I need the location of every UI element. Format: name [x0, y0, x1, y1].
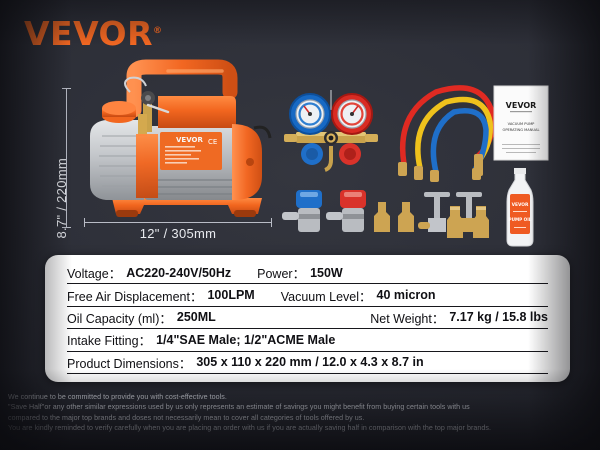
disclaimer-line: We continue to be committed to provide y… — [8, 392, 594, 402]
operating-manual-graphic: VEVOR VACUUM PUMP OPERATING MANUAL — [492, 84, 550, 162]
spec-value: AC220-240V/50Hz — [126, 266, 231, 280]
spec-cell: Oil Capacity (ml)： 250ML — [67, 308, 216, 327]
registered-trademark-icon: ® — [153, 26, 163, 36]
red-quick-coupler — [326, 190, 366, 232]
spec-label: Voltage： — [67, 263, 121, 282]
disclaimer-line: "Save Half"or any other similar expressi… — [8, 402, 594, 412]
spec-cell: Intake Fitting： 1/4"SAE Male; 1/2"ACME M… — [67, 330, 335, 349]
svg-text:CE: CE — [208, 138, 217, 146]
width-dimension-line — [84, 222, 272, 223]
width-dimension-label: 12" / 305mm — [84, 226, 272, 241]
manifold-gauge-graphic — [282, 88, 380, 174]
disclaimer-text: We continue to be committed to provide y… — [8, 392, 594, 434]
spec-label: Product Dimensions： — [67, 353, 191, 372]
manifold-gauge-set-image — [282, 88, 380, 174]
vacuum-pump-image: VEVOR CE — [72, 58, 284, 226]
spec-cell: Product Dimensions： 305 x 110 x 220 mm /… — [67, 353, 424, 372]
svg-text:VACUUM PUMP: VACUUM PUMP — [508, 122, 536, 126]
spec-cell: Power： 150W — [257, 263, 343, 282]
table-row: Free Air Displacement： 100LPM Vacuum Lev… — [67, 284, 548, 306]
operating-manual-image: VEVOR VACUUM PUMP OPERATING MANUAL — [492, 84, 550, 162]
spec-cell: Voltage： AC220-240V/50Hz — [67, 263, 231, 282]
product-image-background: VEVOR® — [0, 0, 600, 450]
svg-text:OPERATING MANUAL: OPERATING MANUAL — [502, 128, 539, 132]
spec-value: 150W — [310, 266, 343, 280]
disclaimer-line: compared to the major top brands and dos… — [8, 413, 594, 423]
pump-oil-bottle-image: VEVOR PUMP OIL — [503, 168, 537, 248]
charging-hoses-graphic — [392, 78, 502, 182]
table-row: Oil Capacity (ml)： 250ML Net Weight： 7.1… — [67, 307, 548, 329]
height-dimension-callout: 8.7" / 220mm — [47, 88, 67, 228]
spec-cell: Free Air Displacement： 100LPM — [67, 286, 255, 305]
pump-oil-bottle-graphic: VEVOR PUMP OIL — [503, 168, 537, 248]
manual-brand-text: VEVOR — [506, 101, 537, 110]
vevor-logo-text: VEVOR — [24, 14, 153, 53]
spec-value: 40 micron — [377, 288, 436, 302]
spec-value: 7.17 kg / 15.8 lbs — [449, 310, 548, 324]
table-row: Intake Fitting： 1/4"SAE Male; 1/2"ACME M… — [67, 329, 548, 351]
height-dimension-label: 8.7" / 220mm — [54, 158, 69, 238]
charging-hoses-image — [392, 78, 502, 182]
table-row: Voltage： AC220-240V/50Hz Power： 150W — [67, 262, 548, 284]
spec-cell: Vacuum Level： 40 micron — [281, 286, 436, 305]
blue-quick-coupler — [282, 190, 322, 232]
spec-label: Oil Capacity (ml)： — [67, 308, 172, 327]
spec-label: Vacuum Level： — [281, 286, 372, 305]
small-brass-fittings-image — [440, 198, 498, 244]
spec-cell: Net Weight： 7.17 kg / 15.8 lbs — [370, 308, 548, 327]
svg-text:VEVOR: VEVOR — [176, 136, 203, 144]
spec-value: 250ML — [177, 310, 216, 324]
brass-adapter — [374, 202, 414, 232]
spec-label: Intake Fitting： — [67, 330, 151, 349]
spec-value: 1/4"SAE Male; 1/2"ACME Male — [156, 333, 335, 347]
spec-label: Net Weight： — [370, 308, 444, 327]
width-dimension-callout: 12" / 305mm — [84, 222, 272, 246]
disclaimer-line: You are kindly reminded to verify carefu… — [8, 423, 594, 433]
spec-label: Power： — [257, 263, 305, 282]
svg-text:VEVOR: VEVOR — [512, 202, 529, 208]
vevor-logo: VEVOR® — [24, 17, 163, 50]
spec-value: 100LPM — [207, 288, 254, 302]
table-row: Product Dimensions： 305 x 110 x 220 mm /… — [67, 352, 548, 374]
svg-text:PUMP OIL: PUMP OIL — [509, 217, 532, 222]
spec-label: Free Air Displacement： — [67, 286, 202, 305]
small-brass-fittings-graphic — [440, 198, 498, 244]
vacuum-pump-graphic: VEVOR CE — [72, 58, 284, 226]
spec-value: 305 x 110 x 220 mm / 12.0 x 4.3 x 8.7 in — [196, 355, 423, 369]
specification-table: Voltage： AC220-240V/50Hz Power： 150W Fre… — [45, 255, 570, 382]
